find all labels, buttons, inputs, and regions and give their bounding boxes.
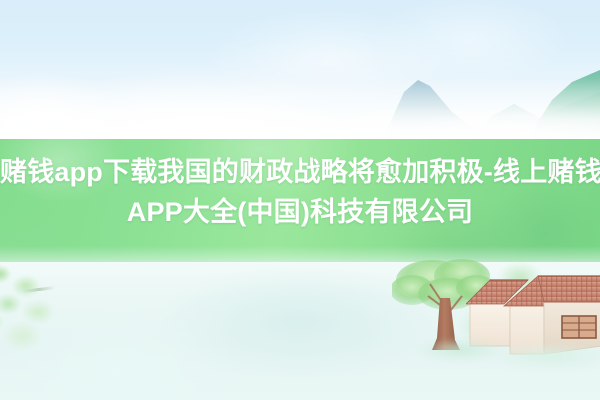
shrub-base [410, 330, 600, 380]
foliage-left [0, 252, 98, 362]
banner-image: 赌钱app下载我国的财政战略将愈加积极-线上赌钱 APP大全(中国)科技有限公司 [0, 0, 600, 400]
house-side-roof [538, 276, 600, 302]
banner-title: 赌钱app下载我国的财政战略将愈加积极-线上赌钱 APP大全(中国)科技有限公司 [0, 152, 600, 232]
banner-title-line-2: APP大全(中国)科技有限公司 [0, 192, 600, 232]
banner-title-line-1: 赌钱app下载我国的财政战略将愈加积极-线上赌钱 [0, 152, 600, 192]
